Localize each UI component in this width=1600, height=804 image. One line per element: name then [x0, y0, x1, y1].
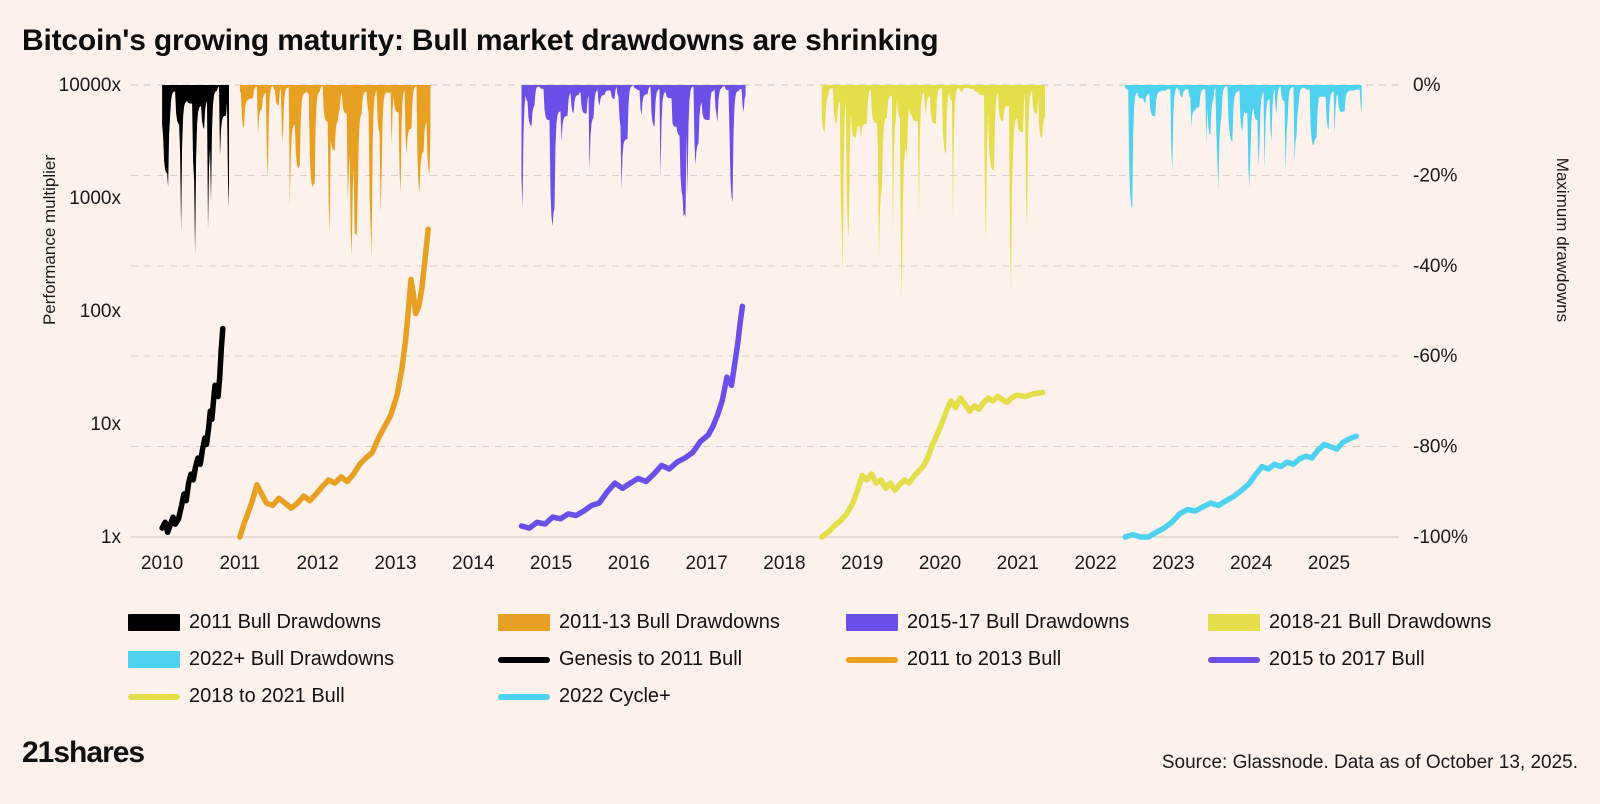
legend-item[interactable]: 2018-21 Bull Drawdowns — [1208, 611, 1491, 634]
y-axis-right-tick: -100% — [1413, 527, 1468, 548]
drawdown-area — [162, 85, 229, 254]
x-axis-tick: 2019 — [841, 553, 883, 574]
x-axis-tick: 2012 — [297, 553, 339, 574]
price-line — [1125, 436, 1356, 537]
x-axis-tick: 2015 — [530, 553, 572, 574]
x-axis-tick: 2017 — [686, 553, 728, 574]
legend-label: 2015 to 2017 Bull — [1269, 648, 1425, 671]
y-axis-left-tick: 100x — [80, 301, 122, 322]
legend-row: 2022+ Bull DrawdownsGenesis to 2011 Bull… — [128, 641, 1518, 678]
legend-label: 2015-17 Bull Drawdowns — [907, 611, 1129, 634]
x-axis-tick: 2020 — [919, 553, 961, 574]
legend-swatch-icon — [128, 694, 180, 700]
y-axis-right-tick: -20% — [1413, 165, 1457, 186]
chart-page: Bitcoin's growing maturity: Bull market … — [0, 0, 1600, 804]
legend-item[interactable]: 2018 to 2021 Bull — [128, 685, 345, 708]
x-axis-tick: 2025 — [1308, 553, 1350, 574]
legend-swatch-icon — [1208, 614, 1260, 631]
legend-swatch-icon — [498, 694, 550, 700]
legend-item[interactable]: 2015-17 Bull Drawdowns — [846, 611, 1129, 634]
y-axis-right-tick: -60% — [1413, 346, 1457, 367]
drawdown-area — [240, 85, 431, 257]
legend-swatch-icon — [846, 657, 898, 663]
y-axis-left-tick: 10000x — [59, 75, 122, 96]
y-axis-right-tick: -40% — [1413, 256, 1457, 277]
legend-item[interactable]: Genesis to 2011 Bull — [498, 648, 742, 671]
legend-item[interactable]: 2015 to 2017 Bull — [1208, 648, 1425, 671]
legend-row: 2011 Bull Drawdowns2011-13 Bull Drawdown… — [128, 604, 1518, 641]
y-axis-right-tick: -80% — [1413, 437, 1457, 458]
legend-swatch-icon — [128, 614, 180, 631]
y-axis-left-tick: 1x — [101, 527, 122, 548]
legend-item[interactable]: 2011 Bull Drawdowns — [128, 611, 381, 634]
price-line — [162, 329, 223, 533]
price-line — [522, 306, 743, 528]
legend-item[interactable]: 2011-13 Bull Drawdowns — [498, 611, 780, 634]
x-axis-tick: 2021 — [997, 553, 1039, 574]
x-axis-tick: 2022 — [1074, 553, 1116, 574]
legend-label: 2011 Bull Drawdowns — [189, 611, 381, 634]
y-axis-left-tick: 10x — [90, 414, 121, 435]
legend-swatch-icon — [846, 614, 898, 631]
legend-swatch-icon — [1208, 657, 1260, 663]
legend-label: 2022+ Bull Drawdowns — [189, 648, 394, 671]
legend-label: 2018-21 Bull Drawdowns — [1269, 611, 1491, 634]
chart-legend: 2011 Bull Drawdowns2011-13 Bull Drawdown… — [128, 604, 1518, 715]
legend-item[interactable]: 2022 Cycle+ — [498, 685, 671, 708]
legend-label: Genesis to 2011 Bull — [559, 648, 742, 671]
drawdown-area — [522, 85, 746, 226]
legend-label: 2011-13 Bull Drawdowns — [559, 611, 780, 634]
brand-logo: 21shares — [22, 736, 144, 770]
y-axis-left-tick: 1000x — [69, 188, 121, 209]
x-axis-tick: 2010 — [141, 553, 183, 574]
source-note: Source: Glassnode. Data as of October 13… — [1162, 752, 1578, 774]
x-axis-tick: 2013 — [374, 553, 416, 574]
x-axis-tick: 2023 — [1152, 553, 1194, 574]
drawdown-area — [1125, 85, 1362, 209]
drawdown-area — [822, 85, 1045, 299]
legend-item[interactable]: 2011 to 2013 Bull — [846, 648, 1061, 671]
x-axis-tick: 2014 — [452, 553, 495, 574]
y-axis-right-tick: 0% — [1413, 75, 1441, 96]
x-axis-tick: 2011 — [219, 553, 260, 574]
legend-item[interactable]: 2022+ Bull Drawdowns — [128, 648, 394, 671]
x-axis-tick: 2024 — [1230, 553, 1273, 574]
y-axis-left-label: Performance multiplier — [40, 130, 60, 350]
legend-label: 2018 to 2021 Bull — [189, 685, 345, 708]
price-line — [240, 229, 428, 537]
y-axis-right-label: Maximum drawdowns — [1552, 130, 1572, 350]
legend-label: 2022 Cycle+ — [559, 685, 671, 708]
legend-swatch-icon — [498, 657, 550, 663]
price-line — [822, 393, 1043, 538]
legend-swatch-icon — [498, 614, 550, 631]
x-axis-tick: 2016 — [608, 553, 650, 574]
legend-swatch-icon — [128, 651, 180, 668]
x-axis-tick: 2018 — [763, 553, 805, 574]
legend-label: 2011 to 2013 Bull — [907, 648, 1061, 671]
legend-row: 2018 to 2021 Bull2022 Cycle+ — [128, 678, 1518, 715]
